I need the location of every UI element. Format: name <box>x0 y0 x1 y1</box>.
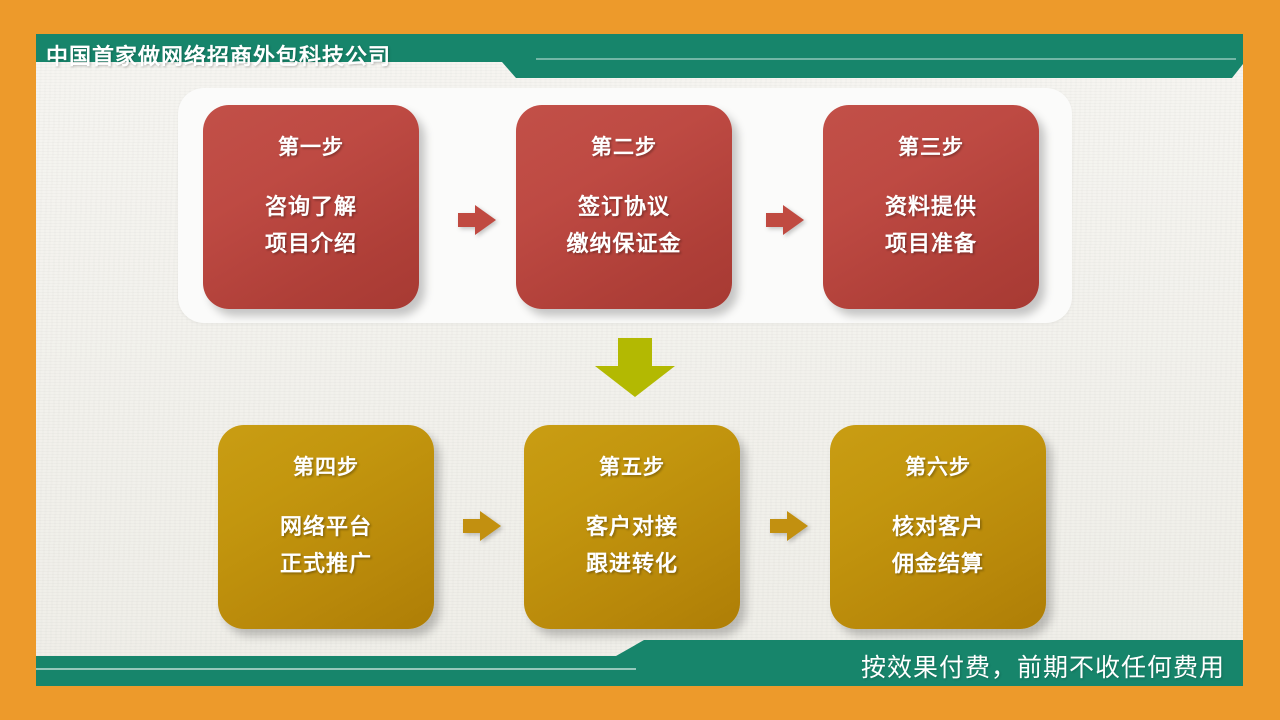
step-box-3[interactable]: 第三步 资料提供 项目准备 <box>823 105 1039 309</box>
arrow-head <box>787 511 808 541</box>
arrow-right-icon-step4-step5 <box>463 511 501 541</box>
step-2-line-2: 缴纳保证金 <box>566 232 681 255</box>
step-4-line-1: 网络平台 <box>280 515 372 538</box>
step-4-lines: 网络平台 正式推广 <box>280 515 372 575</box>
footer-tagline: 按效果付费，前期不收任何费用 <box>861 648 1225 684</box>
step-2-lines: 签订协议 缴纳保证金 <box>566 195 681 255</box>
arrow-right-icon-step2-step3 <box>766 205 804 235</box>
arrow-right-icon-step5-step6 <box>770 511 808 541</box>
step-box-4[interactable]: 第四步 网络平台 正式推广 <box>218 425 434 629</box>
footer-banner: 按效果付费，前期不收任何费用 <box>36 640 1243 686</box>
step-box-6[interactable]: 第六步 核对客户 佣金结算 <box>830 425 1046 629</box>
arrow-head <box>783 205 804 235</box>
step-6-line-1: 核对客户 <box>892 515 984 538</box>
step-4-title: 第四步 <box>293 451 359 481</box>
step-5-lines: 客户对接 跟进转化 <box>586 515 678 575</box>
slide-root: 中国首家做网络招商外包科技公司 第一步 咨询了解 项目介绍 第二步 签订协议 缴… <box>0 0 1280 720</box>
header-hairline <box>536 58 1236 60</box>
step-6-lines: 核对客户 佣金结算 <box>892 515 984 575</box>
step-1-line-2: 项目介绍 <box>265 232 357 255</box>
step-1-title: 第一步 <box>278 131 344 161</box>
footer-hairline <box>36 668 636 670</box>
step-4-line-2: 正式推广 <box>280 552 372 575</box>
arrow-down-icon-step3-step4 <box>595 338 675 396</box>
step-3-line-2: 项目准备 <box>885 232 977 255</box>
arrow-right-icon-step1-step2 <box>458 205 496 235</box>
step-box-2[interactable]: 第二步 签订协议 缴纳保证金 <box>516 105 732 309</box>
step-3-line-1: 资料提供 <box>885 195 977 218</box>
arrow-head <box>480 511 501 541</box>
step-box-5[interactable]: 第五步 客户对接 跟进转化 <box>524 425 740 629</box>
arrow-shaft <box>618 338 652 368</box>
step-2-line-1: 签订协议 <box>566 195 681 218</box>
step-3-lines: 资料提供 项目准备 <box>885 195 977 255</box>
header-title: 中国首家做网络招商外包科技公司 <box>46 39 391 71</box>
step-box-1[interactable]: 第一步 咨询了解 项目介绍 <box>203 105 419 309</box>
step-5-title: 第五步 <box>599 451 665 481</box>
step-1-line-1: 咨询了解 <box>265 195 357 218</box>
arrow-head <box>595 366 675 397</box>
step-5-line-2: 跟进转化 <box>586 552 678 575</box>
step-3-title: 第三步 <box>898 131 964 161</box>
step-6-line-2: 佣金结算 <box>892 552 984 575</box>
step-2-title: 第二步 <box>591 131 657 161</box>
arrow-head <box>475 205 496 235</box>
step-5-line-1: 客户对接 <box>586 515 678 538</box>
step-6-title: 第六步 <box>905 451 971 481</box>
step-1-lines: 咨询了解 项目介绍 <box>265 195 357 255</box>
